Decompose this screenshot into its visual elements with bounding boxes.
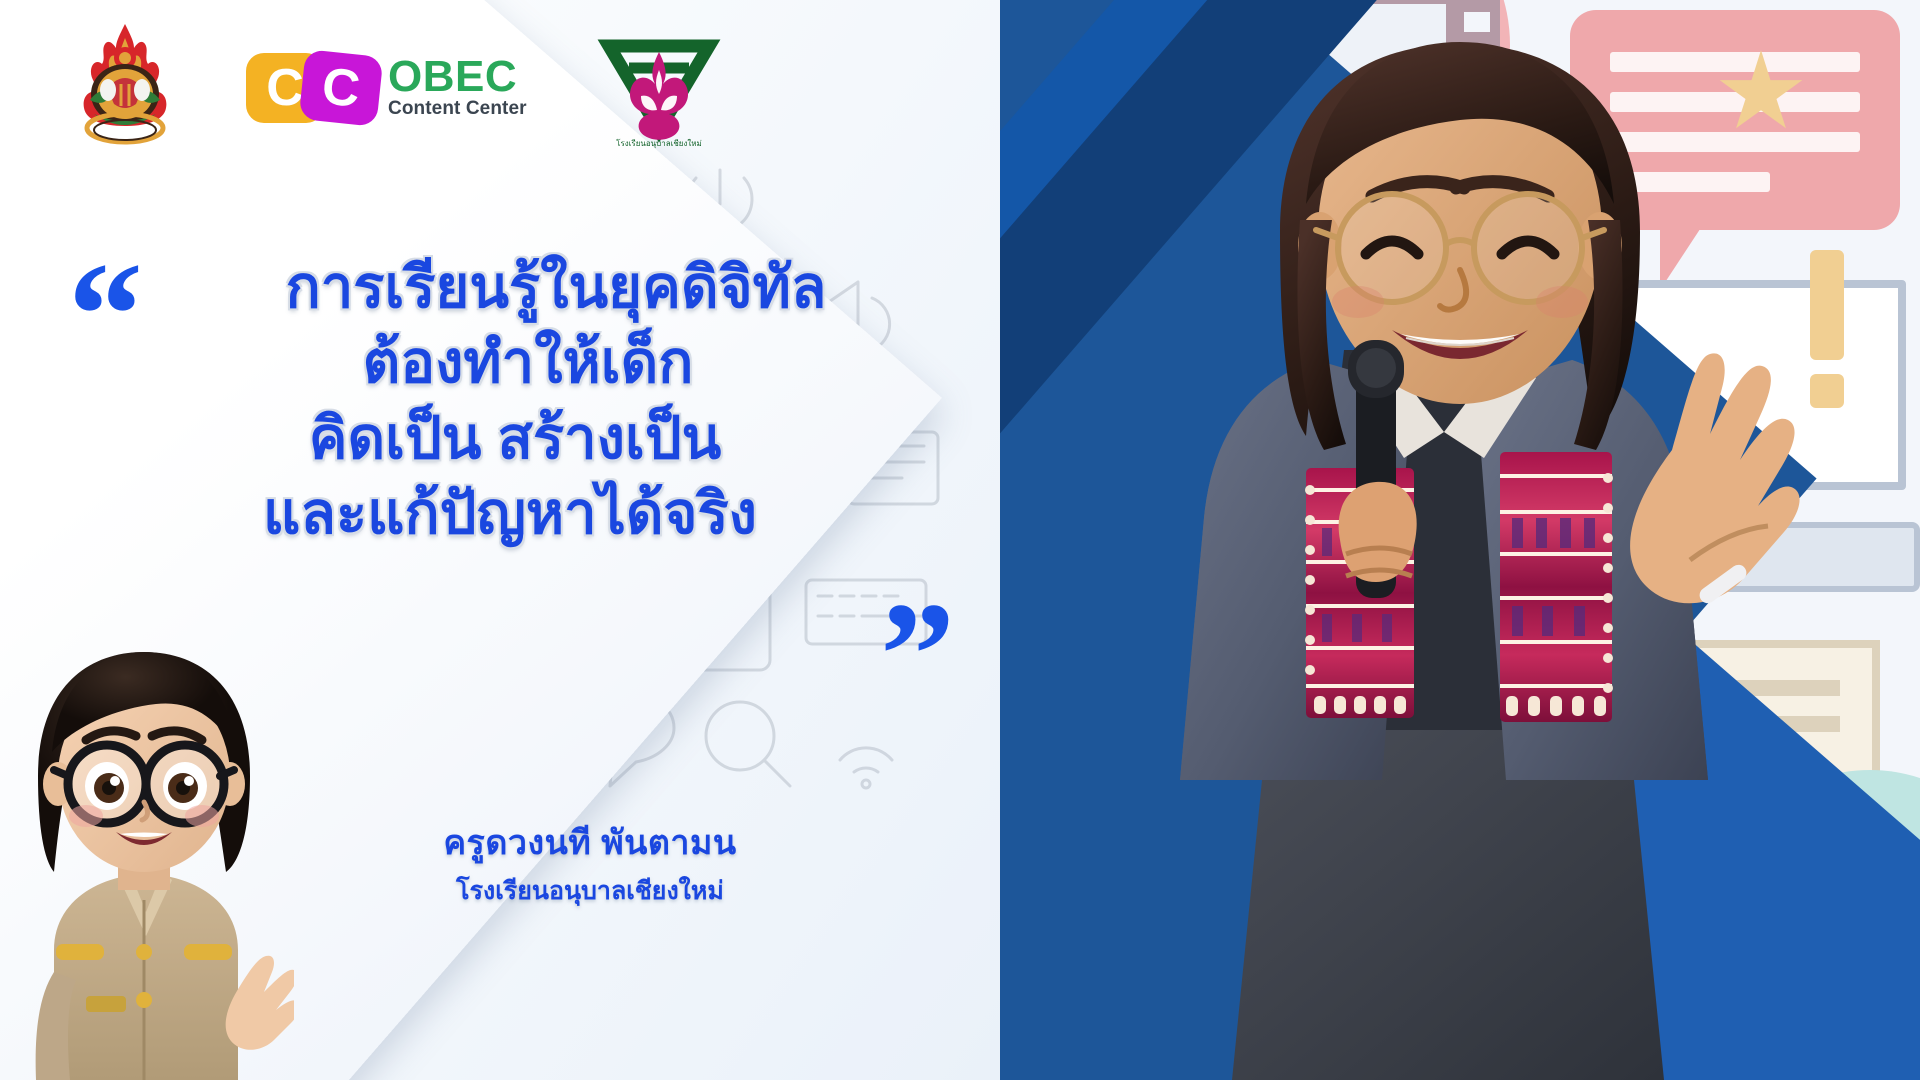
- presenter-photo: [1100, 20, 1820, 1080]
- headline-line-3: คิดเป็น สร้างเป็น: [60, 401, 960, 476]
- open-hand: [1630, 353, 1799, 603]
- quote-close-mark: ”: [880, 610, 955, 700]
- cartoon-teacher-girl: [0, 600, 294, 1080]
- ministry-of-education-garuda-emblem: [72, 22, 178, 150]
- anuban-chiangmai-school-logo: โรงเรียนอนุบาลเชียงใหม่: [595, 22, 723, 150]
- cc-mark-icon: C C: [246, 47, 378, 125]
- school-logo-caption: โรงเรียนอนุบาลเชียงใหม่: [616, 138, 702, 148]
- obec-tagline: Content Center: [388, 99, 527, 119]
- quote-open-mark: “: [68, 270, 143, 360]
- headline-line-1: การเรียนรู้ในยุคดิจิทัล: [60, 250, 960, 325]
- embroidery-panel-right: [1500, 452, 1613, 722]
- cc-letter-first: C: [266, 62, 304, 114]
- credit-block: ครูดวงนที พันตามน โรงเรียนอนุบาลเชียงใหม…: [330, 815, 850, 911]
- headline-block: “ การเรียนรู้ในยุคดิจิทัล ต้องทำให้เด็ก …: [60, 250, 960, 552]
- logo-row: C C OBEC Content Center โรงเรียนอนุบาลเช…: [72, 22, 723, 150]
- cc-letter-second: C: [320, 60, 363, 116]
- presentation-slide: C C OBEC Content Center โรงเรียนอนุบาลเช…: [0, 0, 1920, 1080]
- cc-mark-magenta: C: [299, 49, 384, 127]
- headline-line-2: ต้องทำให้เด็ก: [60, 325, 960, 400]
- obec-wordmark: OBEC: [388, 54, 527, 99]
- headline-line-4: และแก้ปัญหาได้จริง: [60, 476, 960, 551]
- school-name: โรงเรียนอนุบาลเชียงใหม่: [330, 871, 850, 911]
- teacher-name: ครูดวงนที พันตามน: [330, 815, 850, 869]
- obec-content-center-logo: C C OBEC Content Center: [246, 47, 527, 125]
